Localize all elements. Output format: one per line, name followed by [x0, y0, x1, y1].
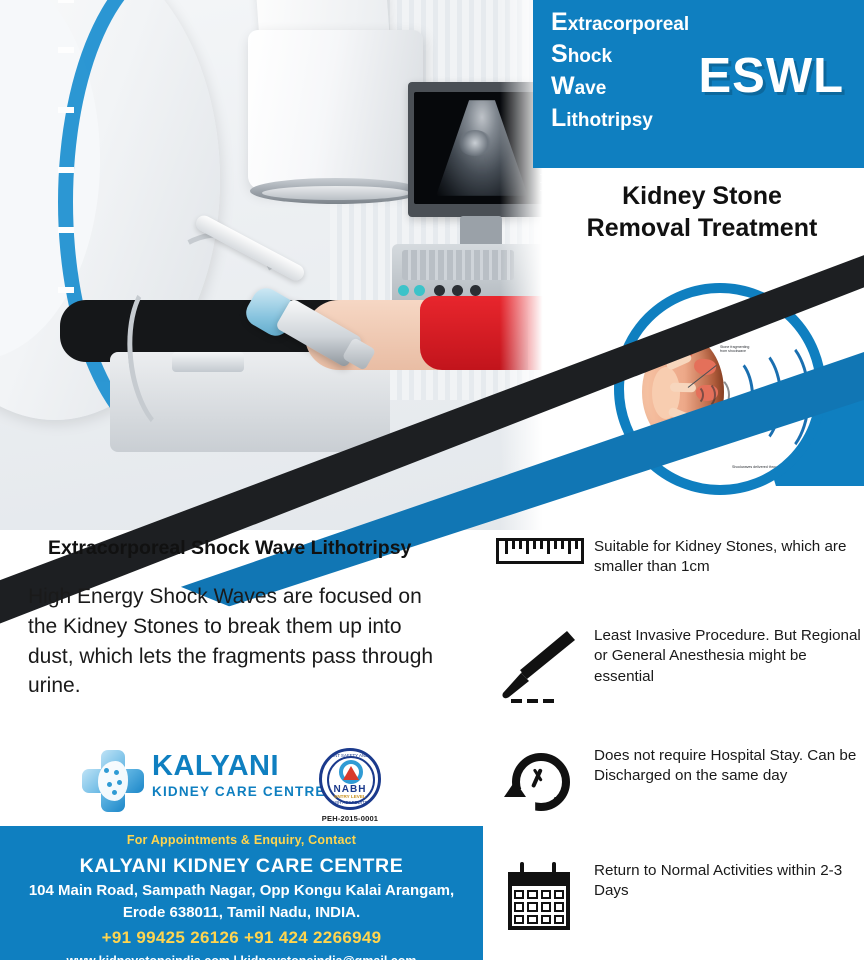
acronym-cap: W	[551, 72, 575, 100]
eswl-acronym: ESWL	[698, 48, 844, 104]
acronym-rest: ave	[575, 78, 607, 99]
console-knob	[452, 285, 463, 296]
diagram-wave-label: Shockwaves delivered through skin	[732, 465, 788, 469]
feature-text: Does not require Hospital Stay. Can be D…	[594, 745, 864, 787]
scalpel-icon	[486, 625, 594, 705]
header-banner: Extracorporeal Shock Wave Lithotripsy ES…	[533, 0, 864, 168]
certificate-number: PEH-2015-0001	[310, 814, 390, 823]
ultrasound-structure	[458, 130, 492, 156]
clinic-address-line-2: Erode 638011, Tamil Nadu, INDIA.	[0, 903, 483, 922]
nabh-triangle	[343, 766, 359, 780]
feature-text: Suitable for Kidney Stones, which are sm…	[594, 536, 864, 578]
console-knob	[470, 285, 481, 296]
nabh-sublabel: ENTRY LEVEL	[322, 794, 378, 799]
feature-item-invasiveness: Least Invasive Procedure. But Regional o…	[486, 625, 864, 705]
clinic-name: KALYANI KIDNEY CARE CENTRE	[0, 855, 483, 878]
acronym-cap: L	[551, 104, 566, 132]
clock-icon	[486, 745, 594, 819]
page-title: Kidney Stone Removal Treatment	[540, 180, 864, 244]
medical-cross-icon	[82, 750, 144, 812]
acronym-rest: hock	[568, 46, 612, 67]
console-knob	[398, 285, 409, 296]
acronym-cap: S	[551, 40, 568, 68]
therapy-head	[248, 30, 423, 190]
acronym-cap: E	[551, 8, 568, 36]
appointments-label: For Appointments & Enquiry, Contact	[0, 833, 483, 847]
section-heading: Extracorporeal Shock Wave Lithotripsy	[48, 537, 411, 560]
console-knob	[414, 285, 425, 296]
therapy-head-lens	[262, 186, 410, 200]
clinic-web-email[interactable]: www.kidneystoneindia.com | kidneystonein…	[0, 954, 483, 960]
clinic-logo: KALYANI KIDNEY CARE CENTRE PATIENT SAFET…	[82, 748, 392, 816]
acronym-line: Lithotripsy	[551, 106, 689, 131]
acronym-expansion: Extracorporeal Shock Wave Lithotripsy	[551, 10, 689, 138]
feature-item-size: Suitable for Kidney Stones, which are sm…	[486, 536, 864, 578]
nabh-arc-top: PATIENT SAFETY AND QUALITY OF CARE	[322, 753, 378, 758]
acronym-line: Shock	[551, 42, 689, 67]
clinic-address-line-1: 104 Main Road, Sampath Nagar, Opp Kongu …	[0, 881, 483, 900]
acronym-rest: xtracorporeal	[568, 14, 689, 35]
ruler-icon	[486, 536, 594, 564]
kidney-dots-icon	[104, 768, 122, 794]
acronym-line: Wave	[551, 74, 689, 99]
console-keyboard	[402, 250, 514, 280]
scalpel-svg	[497, 627, 583, 705]
logo-subtitle: KIDNEY CARE CENTRE	[152, 784, 326, 799]
acronym-rest: ithotripsy	[566, 110, 653, 131]
logo-text: KALYANI KIDNEY CARE CENTRE	[152, 752, 326, 799]
console-knob	[434, 285, 445, 296]
eswl-poster: Extracorporeal Shock Wave Lithotripsy ES…	[0, 0, 864, 960]
nabh-arc-bottom: NABH ACCREDITED	[322, 800, 378, 805]
feature-text: Return to Normal Activities within 2-3 D…	[594, 860, 864, 902]
logo-name: KALYANI	[152, 752, 326, 781]
feature-item-recovery: Return to Normal Activities within 2-3 D…	[486, 860, 864, 932]
diagram-stone-label: Stone fragmenting from shockwave	[720, 345, 749, 354]
eswl-machine-photo	[0, 0, 545, 530]
feature-item-hospital-stay: Does not require Hospital Stay. Can be D…	[486, 745, 864, 819]
section-body: High Energy Shock Waves are focused on t…	[28, 582, 448, 701]
acronym-line: Extracorporeal	[551, 10, 689, 35]
calendar-icon	[486, 860, 594, 932]
clinic-phone-numbers[interactable]: +91 99425 26126 +91 424 2266949	[0, 928, 483, 948]
feature-text: Least Invasive Procedure. But Regional o…	[594, 625, 864, 687]
nabh-accreditation-badge: PATIENT SAFETY AND QUALITY OF CARE NABH …	[319, 748, 381, 810]
contact-footer: For Appointments & Enquiry, Contact KALY…	[0, 826, 483, 960]
